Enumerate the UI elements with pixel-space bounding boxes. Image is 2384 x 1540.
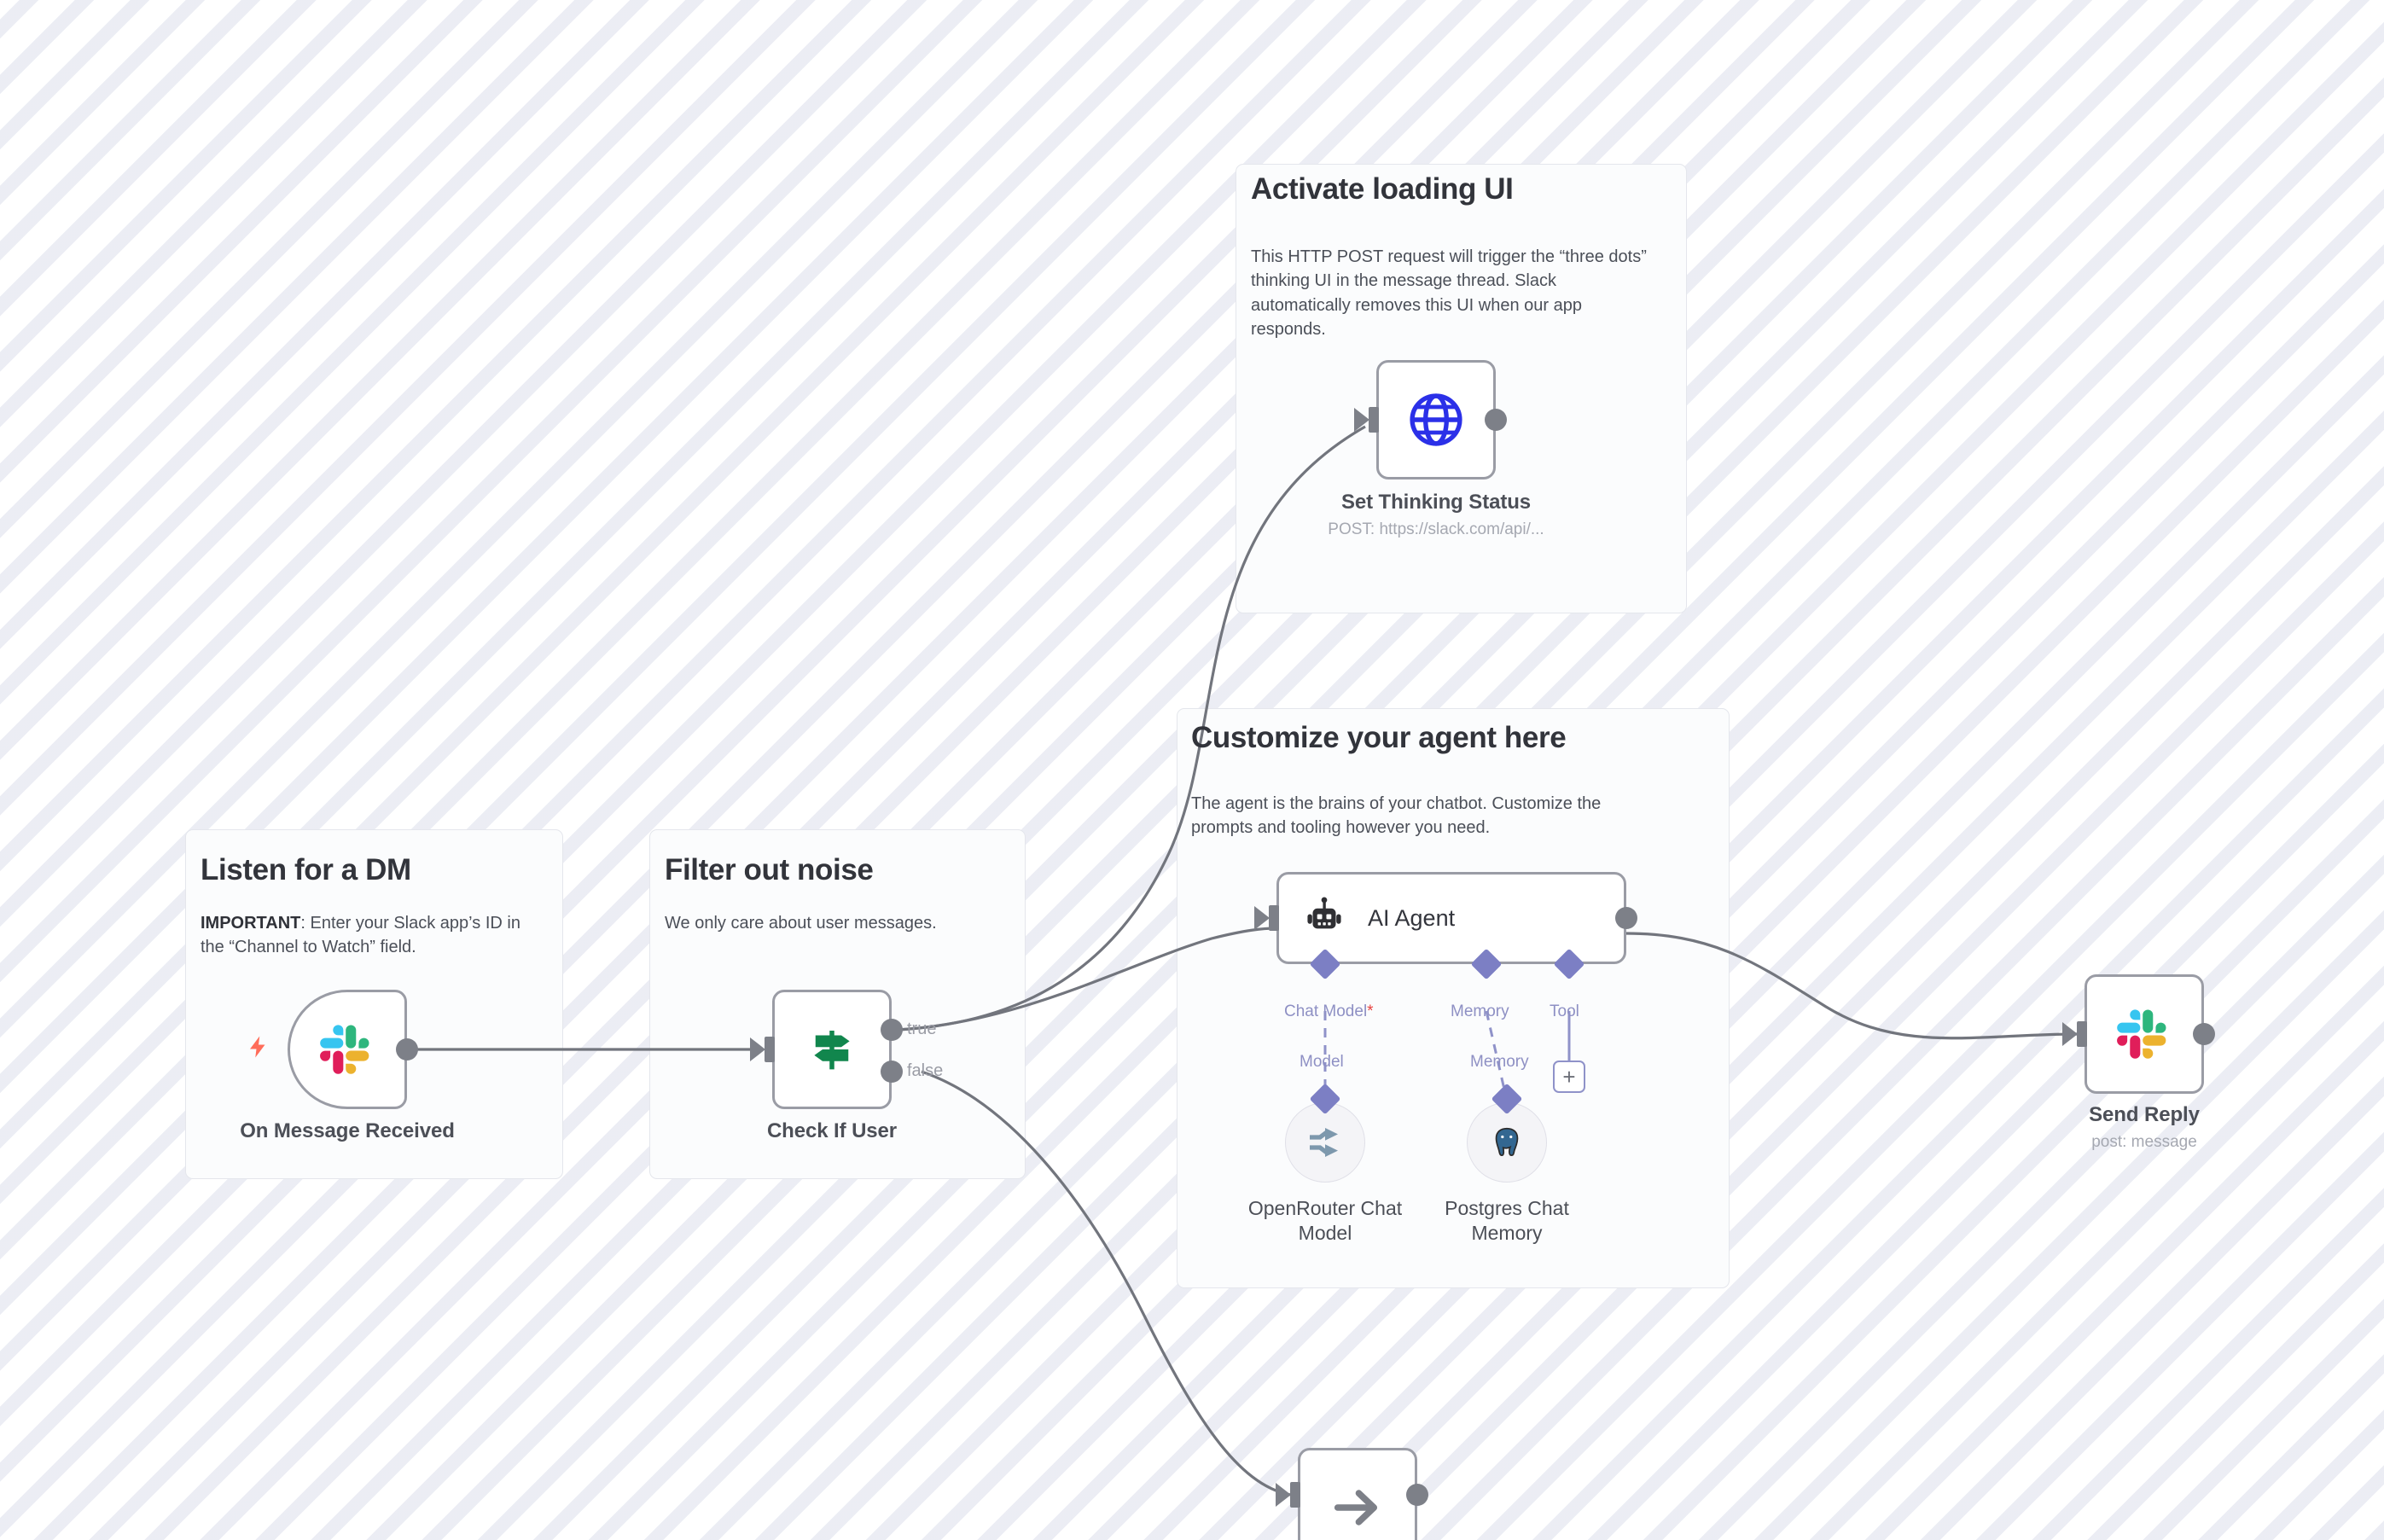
input-port-no-operation[interactable] bbox=[1290, 1482, 1300, 1508]
globe-icon bbox=[1405, 389, 1467, 450]
subnode-caption-openrouter-chat-model: OpenRouter Chat Model bbox=[1231, 1196, 1419, 1246]
add-tool-button[interactable]: + bbox=[1553, 1061, 1585, 1093]
sub-label-memory: Memory bbox=[1470, 1053, 1529, 1072]
input-port-ai-agent[interactable] bbox=[1269, 905, 1279, 931]
node-subtitle-set-thinking-status: POST: https://slack.com/api/... bbox=[1282, 520, 1590, 539]
workflow-canvas[interactable]: Listen for a DM IMPORTANT: Enter your Sl… bbox=[0, 0, 2384, 1540]
trigger-bolt-icon bbox=[246, 1028, 271, 1066]
output-port-set-thinking-status[interactable] bbox=[1485, 409, 1507, 431]
sub-label-model: Model bbox=[1300, 1053, 1344, 1072]
subnode-openrouter-chat-model[interactable] bbox=[1285, 1102, 1365, 1183]
connector-label-chat-model: Chat Model* bbox=[1284, 1002, 1374, 1021]
connector-label-tool: Tool bbox=[1550, 1002, 1579, 1021]
output-label-true: true bbox=[907, 1020, 936, 1039]
switch-signpost-icon bbox=[804, 1021, 860, 1078]
node-send-reply[interactable] bbox=[2085, 974, 2204, 1094]
sticky-body-filter-out-noise: We only care about user messages. bbox=[665, 911, 1006, 935]
node-caption-set-thinking-status: Set Thinking Status bbox=[1308, 491, 1564, 514]
sticky-body-activate-loading-ui: This HTTP POST request will trigger the … bbox=[1251, 245, 1648, 342]
required-marker-chat-model: * bbox=[1367, 1002, 1373, 1020]
output-port-check-if-user-true[interactable] bbox=[881, 1019, 903, 1041]
slack-icon bbox=[316, 1018, 379, 1081]
node-on-message-received[interactable] bbox=[288, 990, 407, 1109]
node-no-operation[interactable] bbox=[1298, 1448, 1417, 1540]
openrouter-icon bbox=[1305, 1122, 1346, 1163]
robot-icon bbox=[1301, 895, 1347, 941]
postgres-elephant-icon bbox=[1487, 1123, 1526, 1162]
input-port-set-thinking-status[interactable] bbox=[1369, 407, 1379, 433]
subnode-caption-postgres-chat-memory: Postgres Chat Memory bbox=[1413, 1196, 1601, 1246]
sticky-body-listen-for-a-dm: IMPORTANT: Enter your Slack app’s ID in … bbox=[201, 911, 549, 960]
sticky-title-filter-out-noise: Filter out noise bbox=[665, 853, 1015, 887]
node-check-if-user[interactable] bbox=[772, 990, 892, 1109]
connector-label-memory: Memory bbox=[1451, 1002, 1509, 1021]
output-port-ai-agent[interactable] bbox=[1615, 907, 1637, 929]
node-caption-on-message-received: On Message Received bbox=[219, 1119, 475, 1143]
sticky-body-important-label: IMPORTANT bbox=[201, 914, 300, 933]
output-port-send-reply[interactable] bbox=[2193, 1023, 2215, 1045]
connector-label-chat-model-text: Chat Model bbox=[1284, 1002, 1367, 1020]
node-subtitle-send-reply: post: message bbox=[2016, 1133, 2272, 1152]
output-label-false: false bbox=[907, 1061, 943, 1081]
sticky-title-listen-for-a-dm: Listen for a DM bbox=[201, 853, 550, 887]
input-port-check-if-user[interactable] bbox=[765, 1037, 775, 1062]
output-port-on-message-received[interactable] bbox=[396, 1038, 418, 1061]
node-caption-check-if-user: Check If User bbox=[704, 1119, 960, 1143]
sticky-body-customize-your-agent: The agent is the brains of your chatbot.… bbox=[1191, 792, 1657, 840]
sticky-title-activate-loading-ui: Activate loading UI bbox=[1251, 172, 1678, 206]
arrow-right-icon bbox=[1328, 1478, 1387, 1537]
sticky-title-customize-your-agent: Customize your agent here bbox=[1191, 721, 1720, 755]
output-port-check-if-user-false[interactable] bbox=[881, 1061, 903, 1083]
input-port-send-reply[interactable] bbox=[2077, 1021, 2087, 1047]
node-set-thinking-status[interactable] bbox=[1376, 360, 1496, 479]
subnode-postgres-chat-memory[interactable] bbox=[1467, 1102, 1547, 1183]
node-ai-agent[interactable]: AI Agent bbox=[1276, 872, 1626, 964]
node-caption-send-reply: Send Reply bbox=[2016, 1103, 2272, 1127]
output-port-no-operation[interactable] bbox=[1406, 1484, 1428, 1506]
node-label-ai-agent: AI Agent bbox=[1368, 905, 1455, 932]
slack-icon bbox=[2113, 1002, 2176, 1066]
